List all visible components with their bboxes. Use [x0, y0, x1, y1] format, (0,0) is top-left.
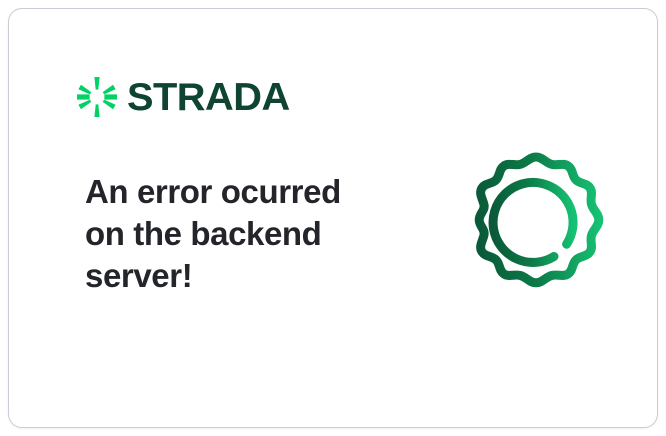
brand-wordmark: STRADA	[127, 78, 290, 117]
strada-asterisk-mark-icon	[77, 77, 117, 117]
error-card: STRADA An error ocurred on the backend s…	[8, 8, 658, 428]
error-message: An error ocurred on the backend server!	[85, 171, 385, 297]
gear-icon	[453, 143, 619, 309]
brand-logo: STRADA	[77, 73, 287, 121]
